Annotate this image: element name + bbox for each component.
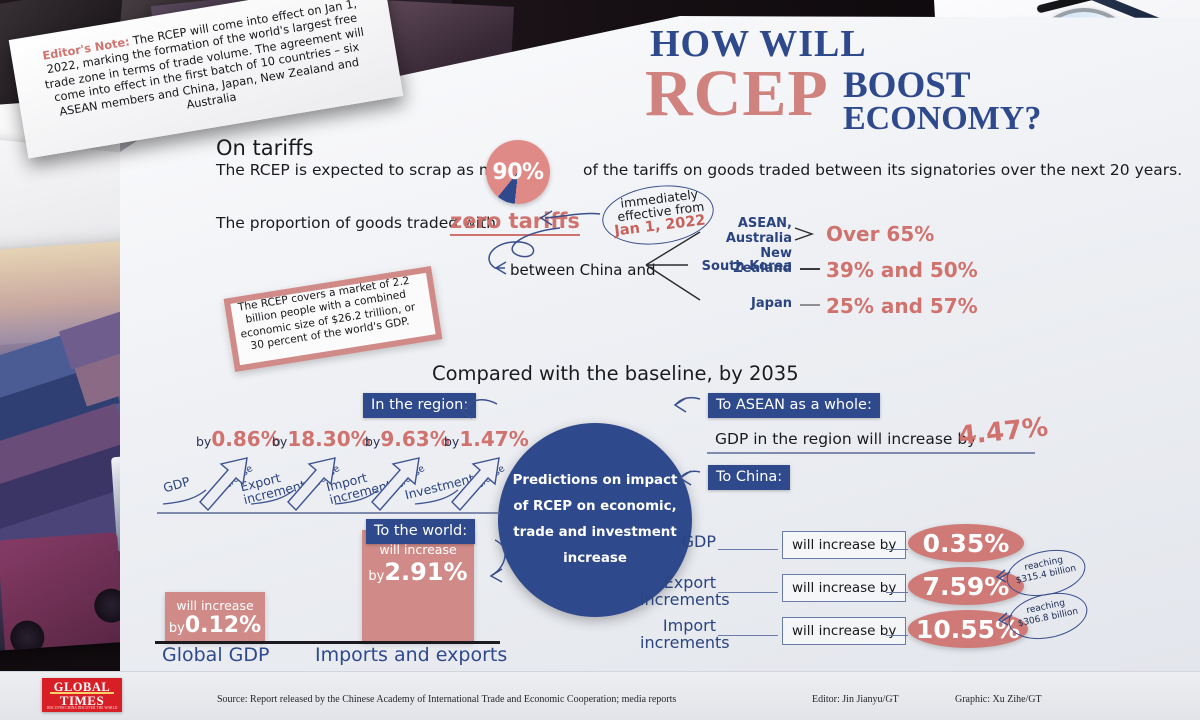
- footer-source: Source: Report released by the Chinese A…: [217, 694, 676, 705]
- footer-graphic: Graphic: Xu Zihe/GT: [955, 694, 1042, 705]
- region-by-0: by: [196, 434, 211, 449]
- tag-in-the-region: In the region:: [363, 393, 476, 418]
- tag-to-the-world: To the world:: [366, 519, 475, 544]
- china-row-value-0: 0.35%: [908, 524, 1024, 562]
- partner-name-1: South Korea: [690, 259, 792, 274]
- bar-1-value: 2.91%: [384, 558, 467, 586]
- china-row-action-1: will increase by: [782, 574, 906, 602]
- region-by-2: by: [365, 434, 380, 449]
- region-pct-1: 18.30%: [287, 427, 370, 451]
- china-connector-0b: [886, 549, 908, 550]
- headline: HOW WILL RCEP BOOST ECONOMY?: [645, 22, 1065, 132]
- partner-dash-2: [800, 304, 820, 306]
- bar-0-by: by: [169, 621, 185, 636]
- footer-editor: Editor: Jin Jianyu/GT: [812, 694, 899, 705]
- china-row-label-0: GDP: [650, 533, 716, 550]
- region-by-3: by: [444, 434, 459, 449]
- bar-0-value: 0.12%: [185, 613, 261, 638]
- partner-value-2: 25% and 57%: [826, 294, 978, 318]
- region-value-1: by18.30%: [272, 427, 371, 451]
- tariff-pie-value: 90%: [486, 140, 550, 204]
- bar-category-0: Global GDP: [162, 644, 269, 666]
- region-value-2: by9.63%: [365, 427, 450, 451]
- china-connector-2b: [886, 635, 908, 636]
- logo-tagline: DISCOVER CHINA DISCOVER THE WORLD: [42, 706, 122, 710]
- headline-rcep: RCEP: [645, 56, 829, 132]
- china-row-action-2: will increase by: [782, 617, 906, 645]
- bar-1-by: by: [368, 569, 384, 584]
- china-row-label-2: Importincrements: [640, 617, 716, 651]
- between-china-and-label: between China and: [510, 261, 655, 279]
- region-pct-0: 0.86%: [211, 427, 280, 451]
- china-row-action-0: will increase by: [782, 531, 906, 559]
- china-row-label-1: Exportincrements: [640, 574, 716, 608]
- headline-economy: ECONOMY?: [843, 100, 1041, 138]
- zero-tariffs-highlight: zero tariffs: [450, 209, 580, 236]
- region-baseline-rule: [157, 512, 500, 514]
- center-circle-text: Predictions on impact of RCEP on economi…: [507, 468, 683, 572]
- china-connector-2: [718, 635, 778, 636]
- tariffs-sentence-part2: of the tariffs on goods traded between i…: [583, 161, 1182, 179]
- region-by-1: by: [272, 434, 287, 449]
- bar-1-line1: will increase: [362, 542, 474, 557]
- china-connector-1b: [886, 592, 908, 593]
- asean-text: GDP in the region will increase by: [715, 430, 976, 448]
- partner-value-0: Over 65%: [826, 222, 934, 246]
- region-value-0: by0.86%: [196, 427, 281, 451]
- china-connector-1: [718, 592, 778, 593]
- region-pct-3: 1.47%: [459, 427, 528, 451]
- partner-value-1: 39% and 50%: [826, 258, 978, 282]
- region-value-3: by1.47%: [444, 427, 529, 451]
- bar-1-value-wrap: by2.91%: [362, 558, 474, 586]
- tariff-pie-chart: 90%: [486, 140, 550, 204]
- china-connector-0: [718, 549, 778, 550]
- tag-to-asean: To ASEAN as a whole:: [708, 393, 880, 418]
- partner-name-2: Japan: [690, 296, 792, 311]
- baseline-heading: Compared with the baseline, by 2035: [432, 362, 799, 385]
- global-times-logo: GLOBAL TIMES DISCOVER CHINA DISCOVER THE…: [42, 678, 122, 712]
- infographic-root: Editor's Note: The RCEP will come into e…: [0, 0, 1200, 720]
- partner-dash-1: [800, 268, 820, 270]
- bar-0-line1: will increase: [165, 598, 265, 613]
- region-pct-2: 9.63%: [380, 427, 449, 451]
- asean-rule: [707, 452, 1035, 454]
- on-tariffs-heading: On tariffs: [216, 136, 314, 160]
- bar-category-1: Imports and exports: [315, 644, 507, 666]
- bar-0-value-wrap: by0.12%: [165, 613, 265, 638]
- tag-to-china: To China:: [708, 465, 790, 490]
